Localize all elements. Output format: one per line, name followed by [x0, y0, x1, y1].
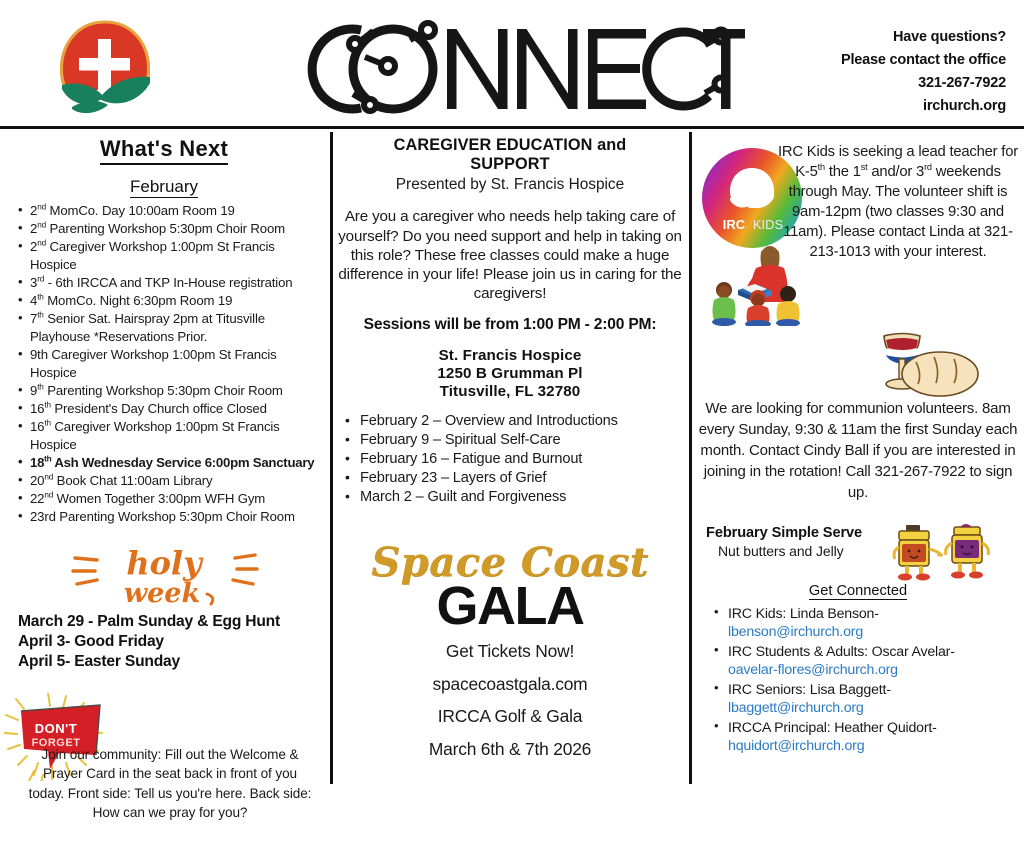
header-phone: 321-267-7922 — [746, 72, 1006, 95]
contact-email[interactable]: oavelar-flores@irchurch.org — [728, 662, 898, 678]
event-item: 16th President's Day Church office Close… — [18, 400, 324, 418]
peanut-butter-jelly-jars-icon — [886, 519, 1000, 585]
event-item: 22nd Women Together 3:00pm WFH Gym — [18, 490, 324, 508]
contact-item: IRC Kids: Linda Benson-lbenson@irchurch.… — [714, 605, 1022, 642]
contact-email[interactable]: lbaggett@irchurch.org — [728, 700, 864, 716]
header-website: irchurch.org — [746, 95, 1006, 118]
irc-kids-text: IRC Kids is seeking a lead teacher for K… — [778, 142, 1018, 262]
hospice-street: 1250 B Grumman Pl — [333, 365, 687, 383]
event-day: 16 — [30, 419, 44, 434]
event-text: Senior Sat. Hairspray 2pm at Titusville … — [30, 311, 265, 344]
event-item: 2nd Parenting Workshop 5:30pm Choir Room — [18, 220, 324, 238]
event-item: 4th MomCo. Night 6:30pm Room 19 — [18, 292, 324, 310]
irc-kids-sup-3: rd — [924, 162, 932, 172]
event-text: Women Together 3:00pm WFH Gym — [53, 491, 265, 506]
event-text: Caregiver Workshop 1:00pm St Francis Hos… — [30, 347, 277, 380]
event-item: 9th Parenting Workshop 5:30pm Choir Room — [18, 382, 324, 400]
header-contact-block: Have questions? Please contact the offic… — [746, 26, 1006, 118]
holy-week-date-line: March 29 - Palm Sunday & Egg Hunt — [18, 612, 328, 632]
gala-event-name: IRCCA Golf & Gala — [333, 703, 687, 729]
gala-website[interactable]: spacecoastgala.com — [333, 671, 687, 697]
event-item: 20nd Book Chat 11:00am Library — [18, 472, 324, 490]
contact-item: IRCCA Principal: Heather Quidort-hquidor… — [714, 719, 1022, 756]
session-item: February 9 – Spiritual Self-Care — [345, 431, 687, 450]
event-text: Parenting Workshop 5:30pm Choir Room — [56, 509, 295, 524]
page-header: Have questions? Please contact the offic… — [0, 0, 1024, 128]
event-text: Caregiver Workshop 1:00pm St Francis Hos… — [30, 419, 280, 452]
session-item: February 2 – Overview and Introductions — [345, 412, 687, 431]
caregiver-title-line-1: CAREGIVER EDUCATION and — [333, 136, 687, 155]
event-day-ordinal: nd — [37, 221, 46, 230]
svg-text:week: week — [124, 578, 200, 608]
event-day: 23rd — [30, 509, 56, 524]
irc-kids-text-p3: and/or 3 — [867, 164, 924, 180]
simple-serve-block: February Simple Serve Nut butters and Je… — [692, 525, 1024, 583]
holy-week-date-line: April 5- Easter Sunday — [18, 652, 328, 672]
contact-item: IRC Students & Adults: Oscar Avelar-oave… — [714, 643, 1022, 680]
event-list: 2nd MomCo. Day 10:00am Room 192nd Parent… — [0, 202, 328, 526]
holy-week-icon: holy week — [59, 542, 269, 608]
event-text: Parenting Workshop 5:30pm Choir Room — [46, 221, 285, 236]
event-text: Caregiver Workshop 1:00pm St Francis Hos… — [30, 239, 275, 272]
communion-bread-and-cup-illustration — [872, 326, 982, 404]
get-connected-label: Get Connected — [809, 583, 907, 600]
event-text: MomCo. Day 10:00am Room 19 — [46, 203, 235, 218]
dont-forget-block: DON'T FORGET Join our community: Fill ou… — [0, 693, 328, 843]
svg-text:DON'T: DON'T — [35, 721, 77, 736]
caregiver-title: CAREGIVER EDUCATION and SUPPORT — [333, 136, 687, 174]
svg-text:IRC: IRC — [723, 217, 746, 232]
event-item: 2nd MomCo. Day 10:00am Room 19 — [18, 202, 324, 220]
session-item: February 23 – Layers of Grief — [345, 469, 687, 488]
event-day: 9th — [30, 347, 48, 362]
event-day-ordinal: nd — [37, 203, 46, 212]
irc-kids-block: IRC KIDS — [692, 132, 1024, 322]
contact-email[interactable]: hquidort@irchurch.org — [728, 738, 864, 754]
hospice-city-state-zip: Titusville, FL 32780 — [333, 383, 687, 401]
holy-week-dates: March 29 - Palm Sunday & Egg HuntApril 3… — [18, 612, 328, 673]
get-connected-heading: Get Connected — [692, 583, 1024, 600]
event-item: 23rd Parenting Workshop 5:30pm Choir Roo… — [18, 508, 324, 526]
caregiver-title-line-2: SUPPORT — [333, 155, 687, 174]
contact-list: IRC Kids: Linda Benson-lbenson@irchurch.… — [692, 605, 1024, 756]
event-day-ordinal: nd — [37, 239, 46, 248]
event-text: Ash Wednesday Service 6:00pm Sanctuary — [51, 455, 314, 470]
right-column: IRC KIDS — [692, 132, 1024, 787]
whats-next-label: What's Next — [100, 136, 228, 165]
event-text: President's Day Church office Closed — [51, 401, 267, 416]
event-item: 7th Senior Sat. Hairspray 2pm at Titusvi… — [18, 310, 324, 345]
contact-item: IRC Seniors: Lisa Baggett-lbaggett@irchu… — [714, 681, 1022, 718]
middle-column: CAREGIVER EDUCATION and SUPPORT Presente… — [333, 132, 687, 787]
event-text: Parenting Workshop 5:30pm Choir Room — [44, 383, 283, 398]
event-day: 20 — [30, 473, 44, 488]
contact-label: IRCCA Principal: Heather Quidort- — [728, 720, 937, 736]
dont-forget-text: Join our community: Fill out the Welcome… — [24, 745, 316, 823]
whats-next-heading: What's Next — [0, 136, 328, 165]
irc-kids-text-p2: the 1 — [825, 164, 861, 180]
header-contact-line-2: Please contact the office — [746, 49, 1006, 72]
event-day-ordinal: nd — [44, 472, 53, 481]
month-heading: February — [0, 177, 328, 198]
connect-wordmark-logo — [265, 8, 745, 123]
event-day-ordinal: nd — [44, 491, 53, 500]
church-logo-icon — [52, 17, 158, 121]
event-text: MomCo. Night 6:30pm Room 19 — [44, 293, 233, 308]
event-item: 3rd - 6th IRCCA and TKP In-House registr… — [18, 274, 324, 292]
gala-word: GALA — [333, 581, 687, 633]
contact-label: IRC Seniors: Lisa Baggett- — [728, 682, 891, 698]
hospice-address: St. Francis Hospice 1250 B Grumman Pl Ti… — [333, 347, 687, 402]
newsletter-page: Have questions? Please contact the offic… — [0, 0, 1024, 790]
event-item: 2nd Caregiver Workshop 1:00pm St Francis… — [18, 238, 324, 273]
header-contact-line-1: Have questions? — [746, 26, 1006, 49]
hospice-name: St. Francis Hospice — [333, 347, 687, 365]
event-day: 22 — [30, 491, 44, 506]
caregiver-body: Are you a caregiver who needs help takin… — [333, 207, 687, 303]
event-text: Book Chat 11:00am Library — [53, 473, 212, 488]
irc-kids-sup-1: th — [818, 162, 825, 172]
event-text: - 6th IRCCA and TKP In-House registratio… — [44, 275, 292, 290]
month-label: February — [130, 177, 198, 198]
header-divider — [0, 126, 1024, 129]
gala-dates: March 6th & 7th 2026 — [333, 736, 687, 762]
contact-label: IRC Kids: Linda Benson- — [728, 606, 879, 622]
session-item: March 2 – Guilt and Forgiveness — [345, 488, 687, 507]
gala-promo: Space Coast GALA Get Tickets Now! spacec… — [333, 543, 687, 763]
event-item: 16th Caregiver Workshop 1:00pm St Franci… — [18, 418, 324, 453]
holy-week-date-line: April 3- Good Friday — [18, 632, 328, 652]
gala-cta: Get Tickets Now! — [333, 638, 687, 664]
svg-text:holy: holy — [126, 544, 204, 582]
session-item: February 16 – Fatigue and Burnout — [345, 450, 687, 469]
caregiver-sessions-time: Sessions will be from 1:00 PM - 2:00 PM: — [333, 316, 687, 334]
contact-email[interactable]: lbenson@irchurch.org — [728, 624, 863, 640]
communion-volunteers-text: We are looking for communion volunteers.… — [692, 398, 1024, 503]
event-item: 18th Ash Wednesday Service 6:00pm Sanctu… — [18, 454, 324, 472]
left-column: What's Next February 2nd MomCo. Day 10:0… — [0, 132, 328, 787]
event-day: 16 — [30, 401, 44, 416]
event-item: 9th Caregiver Workshop 1:00pm St Francis… — [18, 346, 324, 381]
event-day: 18 — [30, 455, 44, 470]
session-list: February 2 – Overview and IntroductionsF… — [333, 412, 687, 507]
contact-label: IRC Students & Adults: Oscar Avelar- — [728, 644, 955, 660]
caregiver-presented-by: Presented by St. Francis Hospice — [333, 176, 687, 194]
